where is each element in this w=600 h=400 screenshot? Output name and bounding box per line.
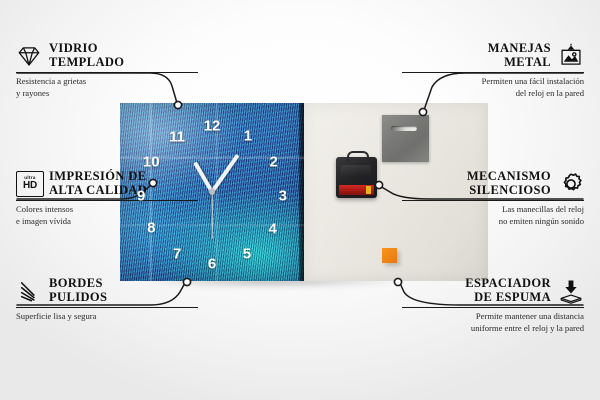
down-arrow-onto-pad-icon bbox=[558, 278, 584, 304]
feature-rule bbox=[16, 72, 198, 73]
feature-desc-line1: Permite mantener una distancia bbox=[402, 311, 584, 322]
ultra-hd-badge-icon: ultra HD bbox=[16, 171, 42, 197]
feature-rule bbox=[16, 307, 198, 308]
connector-dot-manejas bbox=[419, 108, 426, 115]
feature-title-line2: ALTA CALIDAD bbox=[49, 184, 147, 198]
hanging-picture-frame-icon bbox=[558, 43, 584, 69]
clock-hand-cap bbox=[209, 189, 215, 195]
clock-numeral-2: 2 bbox=[269, 154, 277, 169]
feature-mecanismo-silencioso: MECANISMO SILENCIOSO Las manecillas del … bbox=[402, 170, 584, 227]
feature-espaciador-espuma: ESPACIADOR DE ESPUMA Permite mantener un… bbox=[402, 277, 584, 334]
clock-second-hand bbox=[211, 192, 212, 239]
feature-manejas-metal: MANEJAS METAL Permiten una fácil instala… bbox=[402, 42, 584, 99]
feature-desc-line2: no emiten ningún sonido bbox=[402, 216, 584, 227]
clock-numeral-10: 10 bbox=[143, 154, 160, 169]
infographic-stage: 12 1 2 3 4 5 6 7 8 9 10 11 bbox=[0, 0, 600, 400]
gear-icon bbox=[558, 171, 584, 197]
polished-edges-icon bbox=[16, 278, 42, 304]
connector-dot-mecanismo bbox=[375, 181, 382, 188]
clock-numeral-4: 4 bbox=[269, 222, 277, 237]
feature-impresion-alta-calidad: ultra HD IMPRESIÓN DE ALTA CALIDAD Color… bbox=[16, 170, 198, 227]
feature-title-line1: ESPACIADOR bbox=[465, 277, 551, 291]
feature-rule bbox=[402, 72, 584, 73]
feature-desc-line2: del reloj en la pared bbox=[402, 88, 584, 99]
feature-title-line1: BORDES bbox=[49, 277, 107, 291]
feature-desc-line2: e imagen vívida bbox=[16, 216, 198, 227]
feature-rule bbox=[402, 307, 584, 308]
clock-numeral-7: 7 bbox=[173, 247, 181, 262]
connector-dot-espaciador bbox=[394, 278, 401, 285]
feature-desc-line1: Colores intensos bbox=[16, 204, 198, 215]
feature-desc-line1: Superficie lisa y segura bbox=[16, 311, 198, 322]
feature-title-line2: SILENCIOSO bbox=[467, 184, 551, 198]
clock-numeral-11: 11 bbox=[169, 129, 185, 144]
feature-title-line1: VIDRIO bbox=[49, 42, 124, 56]
clock-numeral-3: 3 bbox=[279, 188, 287, 203]
hd-badge-large-label: HD bbox=[23, 181, 37, 191]
clock-numeral-9: 9 bbox=[137, 188, 145, 203]
feature-title-line2: TEMPLADO bbox=[49, 56, 124, 70]
feature-desc-line2: y rayones bbox=[16, 88, 198, 99]
clock-numeral-8: 8 bbox=[147, 221, 155, 236]
feature-desc-line1: Las manecillas del reloj bbox=[402, 204, 584, 215]
feature-title-line1: MECANISMO bbox=[467, 170, 551, 184]
feature-desc-line1: Permiten una fácil instalación bbox=[402, 76, 584, 87]
feature-bordes-pulidos: BORDES PULIDOS Superficie lisa y segura bbox=[16, 277, 198, 323]
feature-desc-line1: Resistencia a grietas bbox=[16, 76, 198, 87]
clock-numeral-12: 12 bbox=[204, 119, 221, 134]
feature-desc-line2: uniforme entre el reloj y la pared bbox=[402, 323, 584, 334]
diamond-icon bbox=[16, 43, 42, 69]
feature-title-line2: DE ESPUMA bbox=[465, 291, 551, 305]
clock-numeral-5: 5 bbox=[243, 247, 251, 262]
feature-rule bbox=[402, 200, 584, 201]
feature-title-line1: IMPRESIÓN DE bbox=[49, 170, 147, 184]
feature-title-line1: MANEJAS bbox=[488, 42, 551, 56]
clock-numeral-1: 1 bbox=[244, 128, 252, 143]
feature-title-line2: PULIDOS bbox=[49, 291, 107, 305]
connector-dot-vidrio bbox=[174, 101, 181, 108]
feature-rule bbox=[16, 200, 198, 201]
clock-numeral-6: 6 bbox=[208, 257, 216, 272]
feature-title-line2: METAL bbox=[488, 56, 551, 70]
feature-vidrio-templado: VIDRIO TEMPLADO Resistencia a grietas y … bbox=[16, 42, 198, 99]
